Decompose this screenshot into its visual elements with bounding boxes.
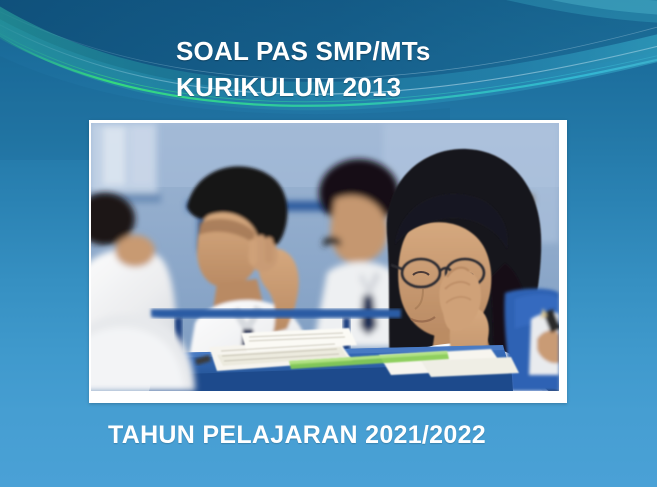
slide-title: SOAL PAS SMP/MTs KURIKULUM 2013 xyxy=(176,33,646,105)
footer-line-1: TAHUN PELAJARAN 2021/2022 xyxy=(108,418,628,452)
classroom-photo xyxy=(91,123,559,391)
presentation-slide: SOAL PAS SMP/MTs KURIKULUM 2013 xyxy=(0,0,657,487)
slide-footer: TAHUN PELAJARAN 2021/2022 xyxy=(108,418,628,452)
swoosh-corner-band xyxy=(430,0,657,24)
photo-frame xyxy=(89,120,567,403)
title-line-2: KURIKULUM 2013 xyxy=(176,69,646,105)
swoosh-corner-band-light xyxy=(470,0,657,16)
title-line-1: SOAL PAS SMP/MTs xyxy=(176,33,646,69)
